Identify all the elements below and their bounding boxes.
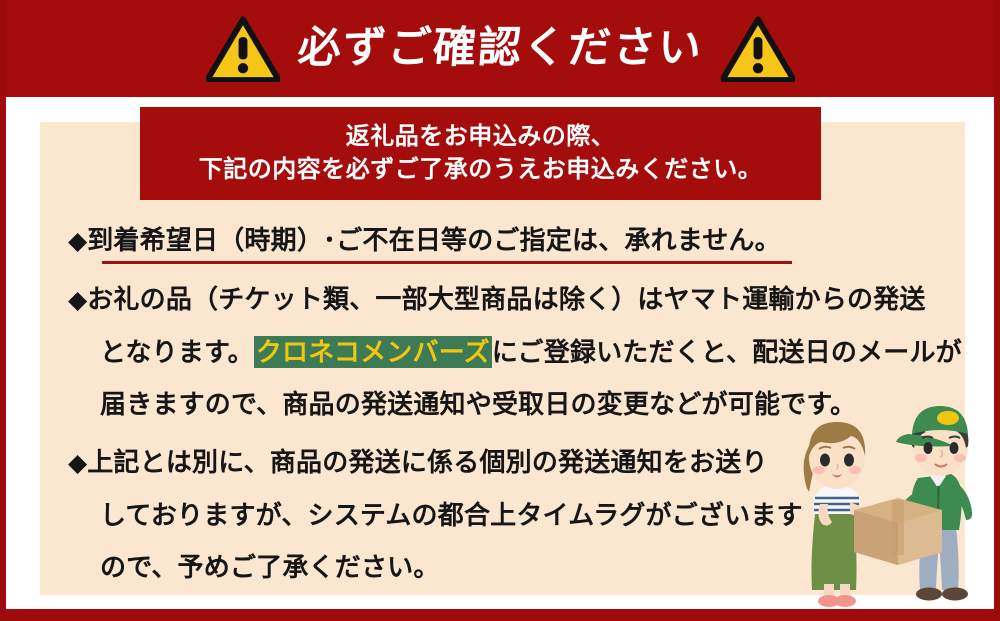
notice-text: 到着希望日（時期）･ご不在日等のご指定は、承れません。 [87,225,781,255]
notice-line: しておりますが、システムの都合上タイムラグがございます [68,489,898,541]
subtitle-line-1: 返礼品をお申込みの際、 [346,122,616,152]
notice-text-pre: となります。 [100,337,254,367]
notice-line: 届きますので、商品の発送通知や受取日の変更などが可能です。 [68,378,898,430]
warning-triangle-icon [206,16,280,82]
notice-line: ので、予めご了承ください。 [68,541,898,593]
notice-line: ◆到着希望日（時期）･ご不在日等のご指定は、承れません。 [68,214,898,267]
bullet-diamond-icon: ◆ [68,227,87,255]
kuroneko-members-highlight[interactable]: クロネコメンバーズ [254,336,492,368]
notice-item: ◆上記とは別に、商品の発送に係る個別の発送通知をお送り しておりますが、システム… [68,436,898,593]
notice-banner: 必ずご確認ください 返礼品をお申込みの際、 下記の内容を必ずご了承のうえお申込み… [0,0,1000,621]
notice-line: ◆お礼の品（チケット類、一部大型商品は除く）はヤマト運輸からの発送 [68,273,898,326]
notice-item: ◆到着希望日（時期）･ご不在日等のご指定は、承れません。 [68,214,898,267]
underline-accent [102,261,792,264]
notice-text-post: にご登録いただくと、配送日のメールが [492,337,962,367]
notice-line: となります。クロネコメンバーズにご登録いただくと、配送日のメールが [68,326,898,378]
bullet-diamond-icon: ◆ [68,286,87,314]
notice-line: ◆上記とは別に、商品の発送に係る個別の発送通知をお送り [68,436,898,489]
notice-text: 上記とは別に、商品の発送に係る個別の発送通知をお送り [87,447,767,477]
banner-header: 必ずご確認ください [0,0,1000,97]
notice-text: お礼の品（チケット類、一部大型商品は除く）はヤマト運輸からの発送 [87,284,925,314]
page-title: 必ずご確認ください [296,27,704,70]
notice-item: ◆お礼の品（チケット類、一部大型商品は除く）はヤマト運輸からの発送 となります。… [68,273,898,430]
subtitle-line-2: 下記の内容を必ずご了承のうえお申込みください。 [199,155,763,185]
notice-list: ◆到着希望日（時期）･ご不在日等のご指定は、承れません。 ◆お礼の品（チケット類… [68,214,898,599]
warning-triangle-icon [721,16,795,82]
subtitle-box: 返礼品をお申込みの際、 下記の内容を必ずご了承のうえお申込みください。 [140,107,821,200]
bullet-diamond-icon: ◆ [68,449,87,477]
